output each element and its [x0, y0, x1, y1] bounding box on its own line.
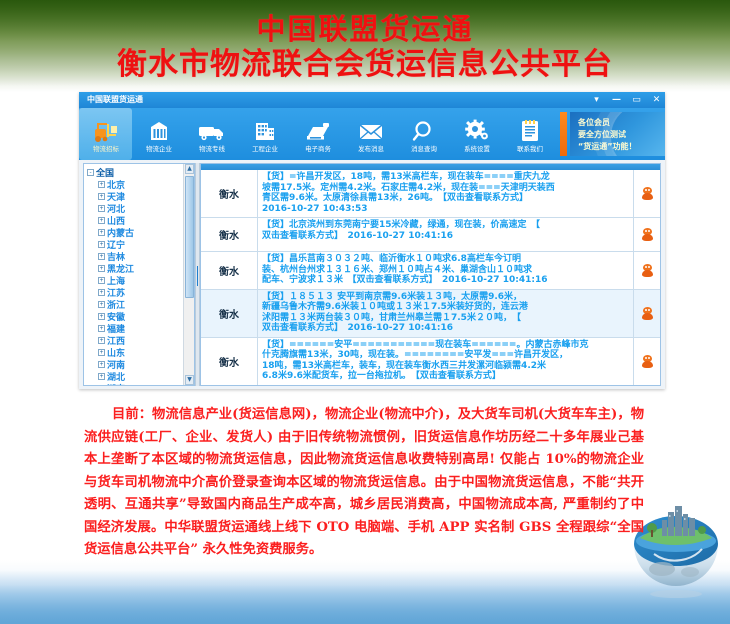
row-message-line: 【货】１８５１３ 安平到南京需9.6米装１３吨，太原需9.6米， — [262, 292, 629, 303]
expand-icon[interactable]: + — [98, 241, 105, 248]
row-message[interactable]: 【货】昌乐莒南３０３２吨、临沂衡水１０吨求6.8高栏车今订明 装、杭州台州求１３… — [258, 252, 634, 289]
page-title-line2: 衡水市物流联合会货运信息公共平台 — [0, 46, 730, 84]
truck-icon — [198, 117, 226, 143]
expand-icon[interactable]: + — [98, 289, 105, 296]
row-message[interactable]: 【货】１８５１３ 安平到南京需9.6米装１３吨，太原需9.6米， 新疆乌鲁木齐需… — [258, 290, 634, 337]
row-message-line: 【货】北京滨州到东莞南宁要15米冷藏，绿通，现在装，价高速定 【 — [262, 220, 629, 231]
tree-node-beijing[interactable]: +北京 — [87, 178, 194, 190]
tree-node-tianjin[interactable]: +天津 — [87, 190, 194, 202]
expand-icon[interactable]: + — [98, 253, 105, 260]
tree-node-jilin[interactable]: +吉林 — [87, 250, 194, 262]
window-title-bar: 中国联盟货运通 ▾ — ▭ ✕ — [79, 92, 665, 108]
message-list: 衡水 【货】=许昌开发区，18吨，需13米高栏车，现在装车====重庆九龙 坡需… — [200, 163, 661, 386]
tree-node-label: 湖南 — [107, 382, 125, 387]
application-window: 中国联盟货运通 ▾ — ▭ ✕ 物流招标 — [79, 92, 665, 389]
tree-node-shanghai[interactable]: +上海 — [87, 274, 194, 286]
row-city: 衡水 — [201, 170, 258, 217]
row-city: 衡水 — [201, 218, 258, 251]
expand-icon[interactable]: + — [98, 277, 105, 284]
promo-banner[interactable]: 各位会员 要全方位测试 “货运通”功能！ — [570, 112, 665, 156]
row-contact-cell[interactable] — [634, 252, 660, 289]
row-message-line: 18吨，需13米高栏车，装车，现在装车衡水西三井发漯河临颍需4.2米 — [262, 361, 629, 372]
toolbar-accent-bar — [560, 112, 567, 156]
row-contact-cell[interactable] — [634, 290, 660, 337]
toolbar-item-engineering-companies[interactable]: 工程企业 — [238, 108, 291, 160]
tree-node-hebei[interactable]: +河北 — [87, 202, 194, 214]
region-tree: - 全国 +北京 +天津 +河北 +山西 +内蒙古 +辽宁 +吉林 +黑龙江 +… — [84, 164, 194, 386]
document-icon — [518, 117, 542, 143]
window-minimize-button[interactable]: — — [610, 92, 623, 108]
qq-contact-icon[interactable] — [642, 307, 653, 320]
row-message-line: 6.8米9.6米配货车，拉一台拖拉机。 【双击查看联系方式】 — [262, 371, 629, 382]
qq-contact-icon[interactable] — [642, 355, 653, 368]
tree-node-shandong[interactable]: +山东 — [87, 346, 194, 358]
toolbar-item-contact-us[interactable]: 联系我们 — [503, 108, 556, 160]
toolbar-item-label: 物流企业 — [146, 144, 172, 153]
tree-node-henan[interactable]: +河南 — [87, 358, 194, 370]
scroll-up-arrow-icon[interactable]: ▲ — [185, 164, 194, 174]
panel-splitter[interactable] — [195, 163, 200, 386]
tree-node-anhui[interactable]: +安徽 — [87, 310, 194, 322]
row-contact-cell[interactable] — [634, 338, 660, 385]
row-message-line: 【货】======安平===========现在装车======。内蒙古赤峰市克 — [262, 340, 629, 351]
table-row[interactable]: 衡水 【货】======安平===========现在装车======。内蒙古赤… — [201, 338, 660, 386]
tree-node-hunan[interactable]: +湖南 — [87, 382, 194, 386]
region-tree-sidebar[interactable]: - 全国 +北京 +天津 +河北 +山西 +内蒙古 +辽宁 +吉林 +黑龙江 +… — [83, 163, 195, 386]
qq-contact-icon[interactable] — [642, 264, 653, 277]
row-message-line: 配车、宁波求１３米 【双击查看联系方式】 2016-10-27 10:41:16 — [262, 275, 629, 286]
row-message-line: 什克腾旗需13米，30吨，现在装。========安平发===许昌开发区， — [262, 350, 629, 361]
tree-node-jiangxi[interactable]: +江西 — [87, 334, 194, 346]
tree-node-root[interactable]: - 全国 — [87, 166, 194, 178]
factory-icon — [253, 117, 277, 143]
tree-node-heilongjiang[interactable]: +黑龙江 — [87, 262, 194, 274]
window-controls: ▾ — ▭ ✕ — [590, 92, 663, 108]
row-message-line: 装、杭州台州求１３１６米、郑州１０吨占４米、巢湖含山１０吨求 — [262, 265, 629, 276]
scroll-down-arrow-icon[interactable]: ▼ — [185, 375, 194, 385]
table-row[interactable]: 衡水 【货】=许昌开发区，18吨，需13米高栏车，现在装车====重庆九龙 坡需… — [201, 170, 660, 218]
toolbar-item-logistics-bidding[interactable]: 物流招标 — [79, 108, 132, 160]
building-icon — [147, 117, 171, 143]
expand-icon[interactable]: + — [98, 181, 105, 188]
expand-icon[interactable]: + — [98, 313, 105, 320]
toolbar-item-label: 联系我们 — [517, 144, 543, 153]
table-row[interactable]: 衡水 【货】昌乐莒南３０３２吨、临沂衡水１０吨求6.8高栏车今订明 装、杭州台州… — [201, 252, 660, 290]
window-maximize-button[interactable]: ▭ — [630, 92, 643, 108]
expand-icon[interactable]: + — [98, 205, 105, 212]
row-city: 衡水 — [201, 338, 258, 385]
tree-node-liaoning[interactable]: +辽宁 — [87, 238, 194, 250]
row-message[interactable]: 【货】北京滨州到东莞南宁要15米冷藏，绿通，现在装，价高速定 【 双击查看联系方… — [258, 218, 634, 251]
row-message-line: 双击查看联系方式】 2016-10-27 10:41:16 — [262, 323, 629, 334]
expand-icon[interactable]: + — [98, 301, 105, 308]
row-message-line: 【货】=许昌开发区，18吨，需13米高栏车，现在装车====重庆九龙 — [262, 172, 629, 183]
toolbar-item-publish-message[interactable]: 发布消息 — [344, 108, 397, 160]
row-city: 衡水 — [201, 252, 258, 289]
page-title-line1: 中国联盟货运通 — [0, 12, 730, 46]
expand-icon[interactable]: + — [98, 193, 105, 200]
row-message[interactable]: 【货】======安平===========现在装车======。内蒙古赤峰市克… — [258, 338, 634, 385]
window-close-button[interactable]: ✕ — [650, 92, 663, 108]
row-message-line: 【货】昌乐莒南３０３２吨、临沂衡水１０吨求6.8高栏车今订明 — [262, 254, 629, 265]
toolbar-item-logistics-companies[interactable]: 物流企业 — [132, 108, 185, 160]
collapse-icon[interactable]: - — [87, 169, 94, 176]
expand-icon[interactable]: + — [98, 349, 105, 356]
row-message-line: 青区需9.6米。太原清徐县需13米，26吨。 【双击查看联系方式】 — [262, 193, 629, 204]
expand-icon[interactable]: + — [98, 337, 105, 344]
toolbar-item-label: 系统设置 — [464, 144, 490, 153]
row-message-line: 新疆乌鲁木齐需9.6米装１０吨或１３米１7.5米装好货的，连云港 — [262, 302, 629, 313]
expand-icon[interactable]: + — [98, 325, 105, 332]
row-message-line: 坡需17.5米。定州需4.2米。石家庄需4.2米，现在装===天津明天装西 — [262, 183, 629, 194]
forklift-icon — [93, 117, 119, 143]
scrollbar-thumb[interactable] — [185, 176, 194, 298]
window-menu-button[interactable]: ▾ — [590, 92, 603, 108]
search-icon — [412, 117, 436, 143]
toolbar-item-label: 发布消息 — [358, 144, 384, 153]
tree-node-fujian[interactable]: +福建 — [87, 322, 194, 334]
toolbar-item-ecommerce[interactable]: 电子商务 — [291, 108, 344, 160]
row-message-line: 2016-10-27 10:43:53 — [262, 204, 629, 215]
expand-icon[interactable]: + — [98, 229, 105, 236]
tree-node-zhejiang[interactable]: +浙江 — [87, 298, 194, 310]
toolbar-item-label: 物流招标 — [93, 144, 119, 153]
expand-icon[interactable]: + — [98, 373, 105, 380]
tree-node-shanxi[interactable]: +山西 — [87, 214, 194, 226]
tree-node-hubei[interactable]: +湖北 — [87, 370, 194, 382]
expand-icon[interactable]: + — [98, 265, 105, 272]
gear-icon — [464, 117, 490, 143]
tree-node-jiangsu[interactable]: +江苏 — [87, 286, 194, 298]
row-contact-cell[interactable] — [634, 170, 660, 217]
description-paragraph: 目前：物流信息产业(货运信息网)，物流企业(物流中介)，及大货车司机(大货车车主… — [84, 404, 644, 562]
window-body: - 全国 +北京 +天津 +河北 +山西 +内蒙古 +辽宁 +吉林 +黑龙江 +… — [79, 160, 665, 389]
wave-decoration-icon — [609, 112, 665, 156]
toolbar-item-label: 电子商务 — [305, 144, 331, 153]
expand-icon[interactable]: + — [98, 361, 105, 368]
expand-icon[interactable]: + — [98, 217, 105, 224]
page-title: 中国联盟货运通 衡水市物流联合会货运信息公共平台 — [0, 12, 730, 84]
qq-contact-icon[interactable] — [642, 228, 653, 241]
row-message[interactable]: 【货】=许昌开发区，18吨，需13米高栏车，现在装车====重庆九龙 坡需17.… — [258, 170, 634, 217]
table-row[interactable]: 衡水 【货】北京滨州到东莞南宁要15米冷藏，绿通，现在装，价高速定 【 双击查看… — [201, 218, 660, 252]
main-toolbar: 物流招标 物流企业 物流专线 — [79, 108, 665, 160]
splitter-grip — [197, 266, 198, 286]
toolbar-item-system-settings[interactable]: 系统设置 — [450, 108, 503, 160]
qq-contact-icon[interactable] — [642, 187, 653, 200]
expand-icon[interactable]: + — [98, 385, 105, 387]
row-message-line: 沭阳需１３米两台装３０吨，甘肃兰州皋兰需１7.5米２０吨， 【 — [262, 313, 629, 324]
table-row[interactable]: 衡水 【货】１８５１３ 安平到南京需9.6米装１３吨，太原需9.6米， 新疆乌鲁… — [201, 290, 660, 338]
toolbar-item-label: 物流专线 — [199, 144, 225, 153]
toolbar-item-message-query[interactable]: 消息查询 — [397, 108, 450, 160]
toolbar-item-label: 工程企业 — [252, 144, 278, 153]
window-title: 中国联盟货运通 — [87, 95, 143, 104]
envelope-icon — [358, 117, 384, 143]
toolbar-item-logistics-lines[interactable]: 物流专线 — [185, 108, 238, 160]
toolbar-item-label: 消息查询 — [411, 144, 437, 153]
row-contact-cell[interactable] — [634, 218, 660, 251]
tree-node-neimenggu[interactable]: +内蒙古 — [87, 226, 194, 238]
row-city: 衡水 — [201, 290, 258, 337]
row-message-line: 双击查看联系方式】 2016-10-27 10:41:16 — [262, 231, 629, 242]
ecommerce-icon — [304, 117, 332, 143]
sidebar-scrollbar[interactable]: ▲ ▼ — [183, 164, 194, 385]
